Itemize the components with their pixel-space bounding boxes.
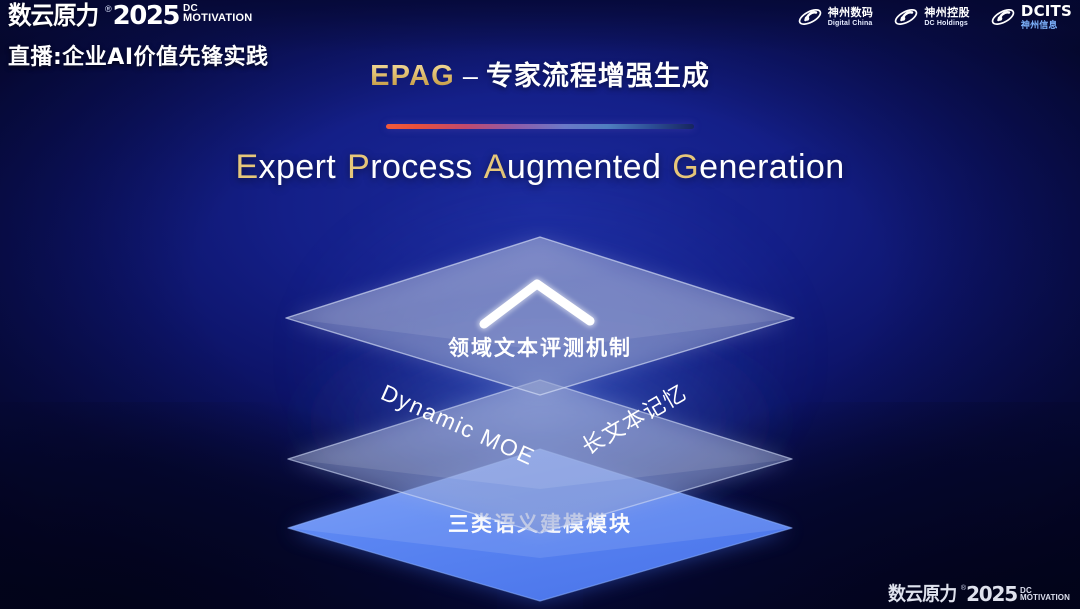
- header-brand-block: 数云原力 ® 2025 DC MOTIVATION 直播:企业AI价值先锋实践: [8, 2, 269, 71]
- brand-lockup: 数云原力 ® 2025 DC MOTIVATION: [8, 2, 269, 32]
- partner-name-en: 神州信息: [1021, 21, 1072, 30]
- subtitle-word-generation: Generation: [672, 148, 844, 186]
- brand-year: 2025: [113, 2, 179, 30]
- partner-logos-bar: 神州数码 Digital China 神州控股 DC Holdings DCIT…: [797, 4, 1072, 30]
- watermark-name-cn: 数云原力: [888, 584, 956, 605]
- title-acronym: EPAG: [370, 60, 455, 92]
- partner-name-cn: 神州控股: [924, 7, 970, 19]
- partner-logo-digital-china: 神州数码 Digital China: [797, 6, 874, 28]
- watermark-dc-motivation: DC MOTIVATION: [1020, 584, 1070, 602]
- partner-name-en: DC Holdings: [924, 20, 970, 27]
- partner-name-en: Digital China: [828, 20, 874, 27]
- subtitle-word-augmented: Augmented: [484, 148, 662, 186]
- subtitle-word-expert: Expert: [235, 148, 336, 186]
- brand-dc-line2: MOTIVATION: [183, 13, 252, 24]
- watermark-dc-line2: MOTIVATION: [1020, 594, 1070, 602]
- swirl-icon: [893, 6, 919, 28]
- page-subtitle: ExpertProcessAugmentedGeneration: [0, 148, 1080, 187]
- partner-logo-dcits: DCITS 神州信息: [990, 4, 1072, 30]
- brand-dc-motivation: DC MOTIVATION: [183, 2, 252, 24]
- swirl-icon: [797, 6, 823, 28]
- partner-name-cn: 神州数码: [828, 7, 874, 19]
- footer-watermark: 数云原力 ® 2025 DC MOTIVATION: [888, 584, 1070, 605]
- layer-top-label: 领域文本评测机制: [448, 336, 632, 360]
- title-chinese: 专家流程增强生成: [486, 61, 710, 92]
- gradient-divider: [386, 124, 694, 129]
- partner-name-cn: DCITS: [1021, 4, 1072, 20]
- partner-logo-dc-holdings: 神州控股 DC Holdings: [893, 6, 970, 28]
- live-session-title: 直播:企业AI价值先锋实践: [8, 39, 269, 71]
- title-dash: –: [463, 61, 478, 91]
- subtitle-word-process: Process: [347, 148, 473, 186]
- brand-name-cn: 数云原力: [8, 2, 98, 30]
- watermark-year: 2025: [966, 584, 1017, 605]
- swirl-icon: [990, 6, 1016, 28]
- registered-mark-icon: ®: [105, 3, 112, 15]
